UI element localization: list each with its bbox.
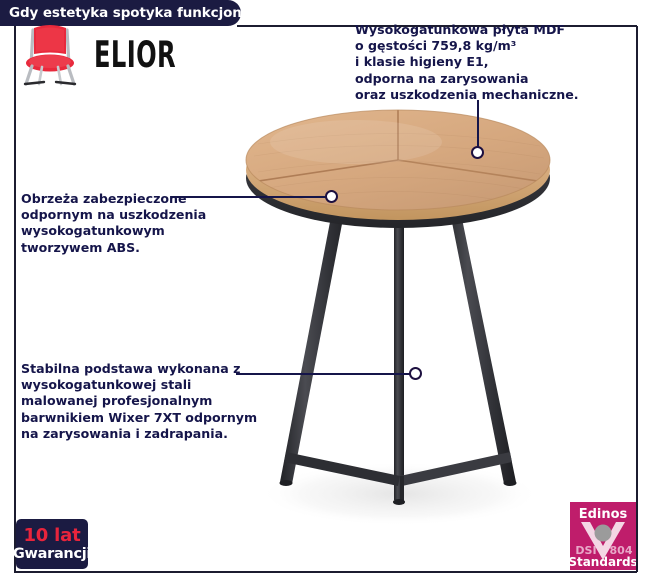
product-infographic: Gdy estetyka spotyka funkcjonalność ELIO… [0,0,650,580]
callout-dot-tabletop [471,146,484,159]
edinos-standards-text: Standards [570,555,636,569]
callout-leader-line-2 [172,196,332,198]
warranty-badge: 10 lat Gwarancji [16,519,88,569]
callout-dot-edge-band [325,190,338,203]
callout-leader-line-1 [477,100,479,152]
callout-edge-banding: Obrzeża zabezpieczone odpornym na uszkod… [21,191,206,256]
brand-logo: ELIOR [22,22,199,88]
edinos-standards-badge: Edinos DSI 804 Standards [570,502,636,570]
edinos-brand-text: Edinos [579,507,628,522]
product-image [228,104,568,564]
callout-steel-base: Stabilna podstawa wykonana z wysokogatun… [21,361,257,442]
warranty-years: 10 lat [23,527,80,545]
brand-name: ELIOR [94,34,176,76]
banner-title: Gdy estetyka spotyka funkcjonalność [9,5,290,21]
frame-border-bottom [14,571,637,573]
callout-dot-leg [409,367,422,380]
table-top [246,110,550,228]
frame-border-right [636,26,638,572]
callout-leader-line-3 [236,373,416,375]
red-chair-icon [22,22,78,88]
callout-tabletop-material: Wysokogatunkowa płyta MDF o gęstości 759… [355,22,579,103]
frame-border-left [14,26,16,572]
warranty-label: Gwarancji [13,547,91,562]
